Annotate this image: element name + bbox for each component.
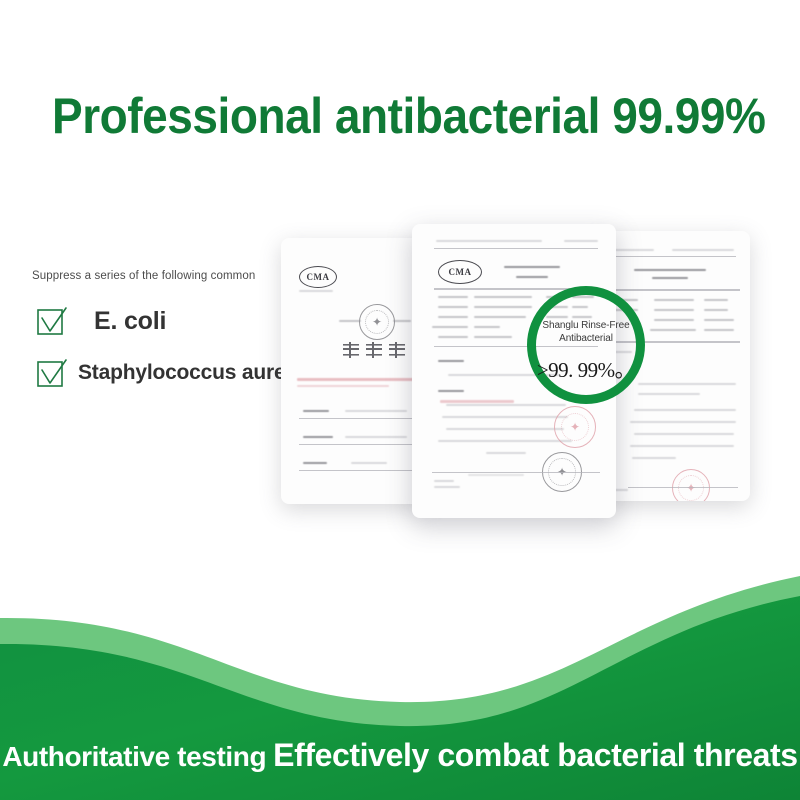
red-round-seal-icon: ✦ (554, 406, 596, 448)
checkbox-checked-icon (36, 306, 66, 336)
list-item: E. coli (36, 306, 282, 336)
round-star-seal-icon: ✦ (542, 452, 582, 492)
antibacterial-claim-badge: Shanglu Rinse-Free Antibacterial >99. 99… (527, 286, 645, 404)
badge-claim-value: >99. 99%。 (537, 354, 635, 384)
footer-tagline: Authoritative testing Effectively combat… (0, 737, 800, 774)
feature-list: Suppress a series of the following commo… (32, 270, 282, 410)
page-headline: Professional antibacterial 99.99% (52, 86, 765, 146)
red-round-seal-icon: ✦ (672, 469, 710, 501)
footer-main-text: Effectively combat bacterial threats (273, 737, 797, 774)
cma-logo-icon: CMA (299, 266, 337, 288)
feature-list-lead: Suppress a series of the following commo… (32, 270, 282, 282)
list-item: Staphylococcus aureus (36, 358, 282, 388)
footer-lead-text: Authoritative testing (2, 741, 266, 773)
cma-logo-icon: CMA (438, 260, 482, 284)
report-title-cn (343, 342, 405, 358)
antibacterial-promo-poster: Professional antibacterial 99.99% CMA ✦ (0, 0, 800, 800)
feature-label-staph: Staphylococcus aureus (78, 361, 310, 385)
badge-brand-line-1: Shanglu Rinse-Free (542, 320, 629, 331)
round-star-seal-icon: ✦ (359, 304, 395, 340)
badge-brand-line-2: Antibacterial (559, 333, 613, 344)
feature-label-ecoli: E. coli (94, 307, 166, 336)
checkbox-checked-icon (36, 358, 66, 388)
